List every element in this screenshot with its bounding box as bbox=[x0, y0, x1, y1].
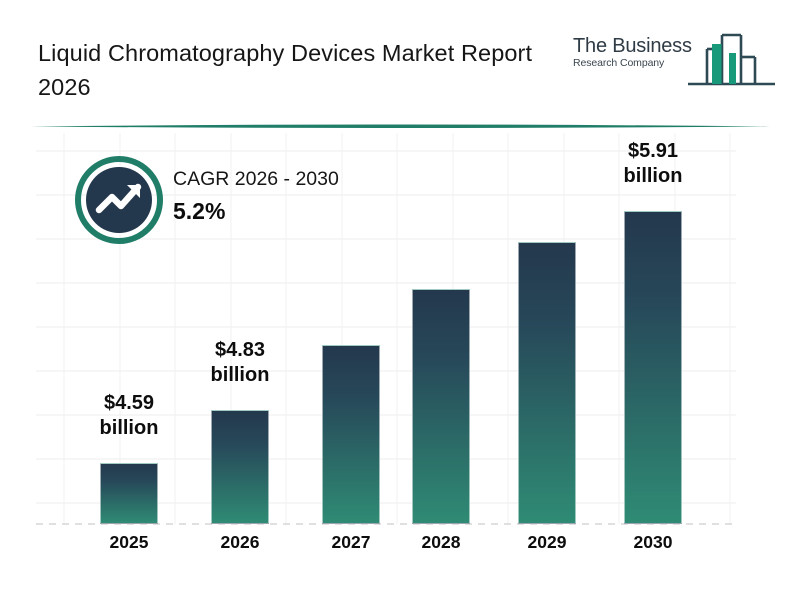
bar-2029[interactable] bbox=[518, 242, 576, 524]
page-title: Liquid Chromatography Devices Market Rep… bbox=[38, 36, 548, 104]
bar-2028[interactable] bbox=[412, 289, 470, 524]
logo-wordmark: The Business Research Company bbox=[573, 35, 691, 70]
x-tick-2030: 2030 bbox=[603, 532, 703, 553]
bar-value-amount-2026: $4.83 bbox=[181, 338, 299, 363]
cagr-badge: CAGR 2026 - 2030 5.2% bbox=[75, 156, 405, 248]
cagr-value-label: 5.2% bbox=[173, 196, 403, 226]
cagr-period-label: CAGR 2026 - 2030 bbox=[173, 166, 403, 192]
cagr-circle-icon bbox=[75, 156, 163, 244]
bar-value-unit-2026: billion bbox=[181, 363, 299, 388]
bar-chart-logo-icon bbox=[683, 27, 778, 93]
bar-2025[interactable] bbox=[100, 463, 158, 524]
cagr-text-block: CAGR 2026 - 2030 5.2% bbox=[173, 166, 403, 226]
bar-value-label-2026: $4.83 billion bbox=[181, 338, 299, 388]
bar-value-label-2025: $4.59 billion bbox=[70, 391, 188, 441]
chart-page: Liquid Chromatography Devices Market Rep… bbox=[0, 0, 800, 600]
x-tick-2029: 2029 bbox=[497, 532, 597, 553]
x-tick-2026: 2026 bbox=[190, 532, 290, 553]
logo-line1: The Business bbox=[573, 35, 691, 57]
bar-value-amount-2025: $4.59 bbox=[70, 391, 188, 416]
x-tick-2025: 2025 bbox=[79, 532, 179, 553]
x-tick-2027: 2027 bbox=[301, 532, 401, 553]
header-divider bbox=[30, 124, 770, 129]
bar-value-amount-2030: $5.91 bbox=[594, 139, 712, 164]
bar-value-label-2030: $5.91 billion bbox=[594, 139, 712, 189]
bar-value-unit-2025: billion bbox=[70, 416, 188, 441]
bar-2030[interactable] bbox=[624, 211, 682, 524]
bar-value-unit-2030: billion bbox=[594, 164, 712, 189]
logo-line2: Research Company bbox=[573, 57, 691, 70]
chart-header: Liquid Chromatography Devices Market Rep… bbox=[0, 0, 800, 126]
bar-2026[interactable] bbox=[211, 410, 269, 524]
x-tick-2028: 2028 bbox=[391, 532, 491, 553]
company-logo: The Business Research Company bbox=[573, 27, 778, 99]
x-axis: 2025 2026 2027 2028 2029 2030 bbox=[36, 530, 736, 564]
bar-2027[interactable] bbox=[322, 345, 380, 524]
